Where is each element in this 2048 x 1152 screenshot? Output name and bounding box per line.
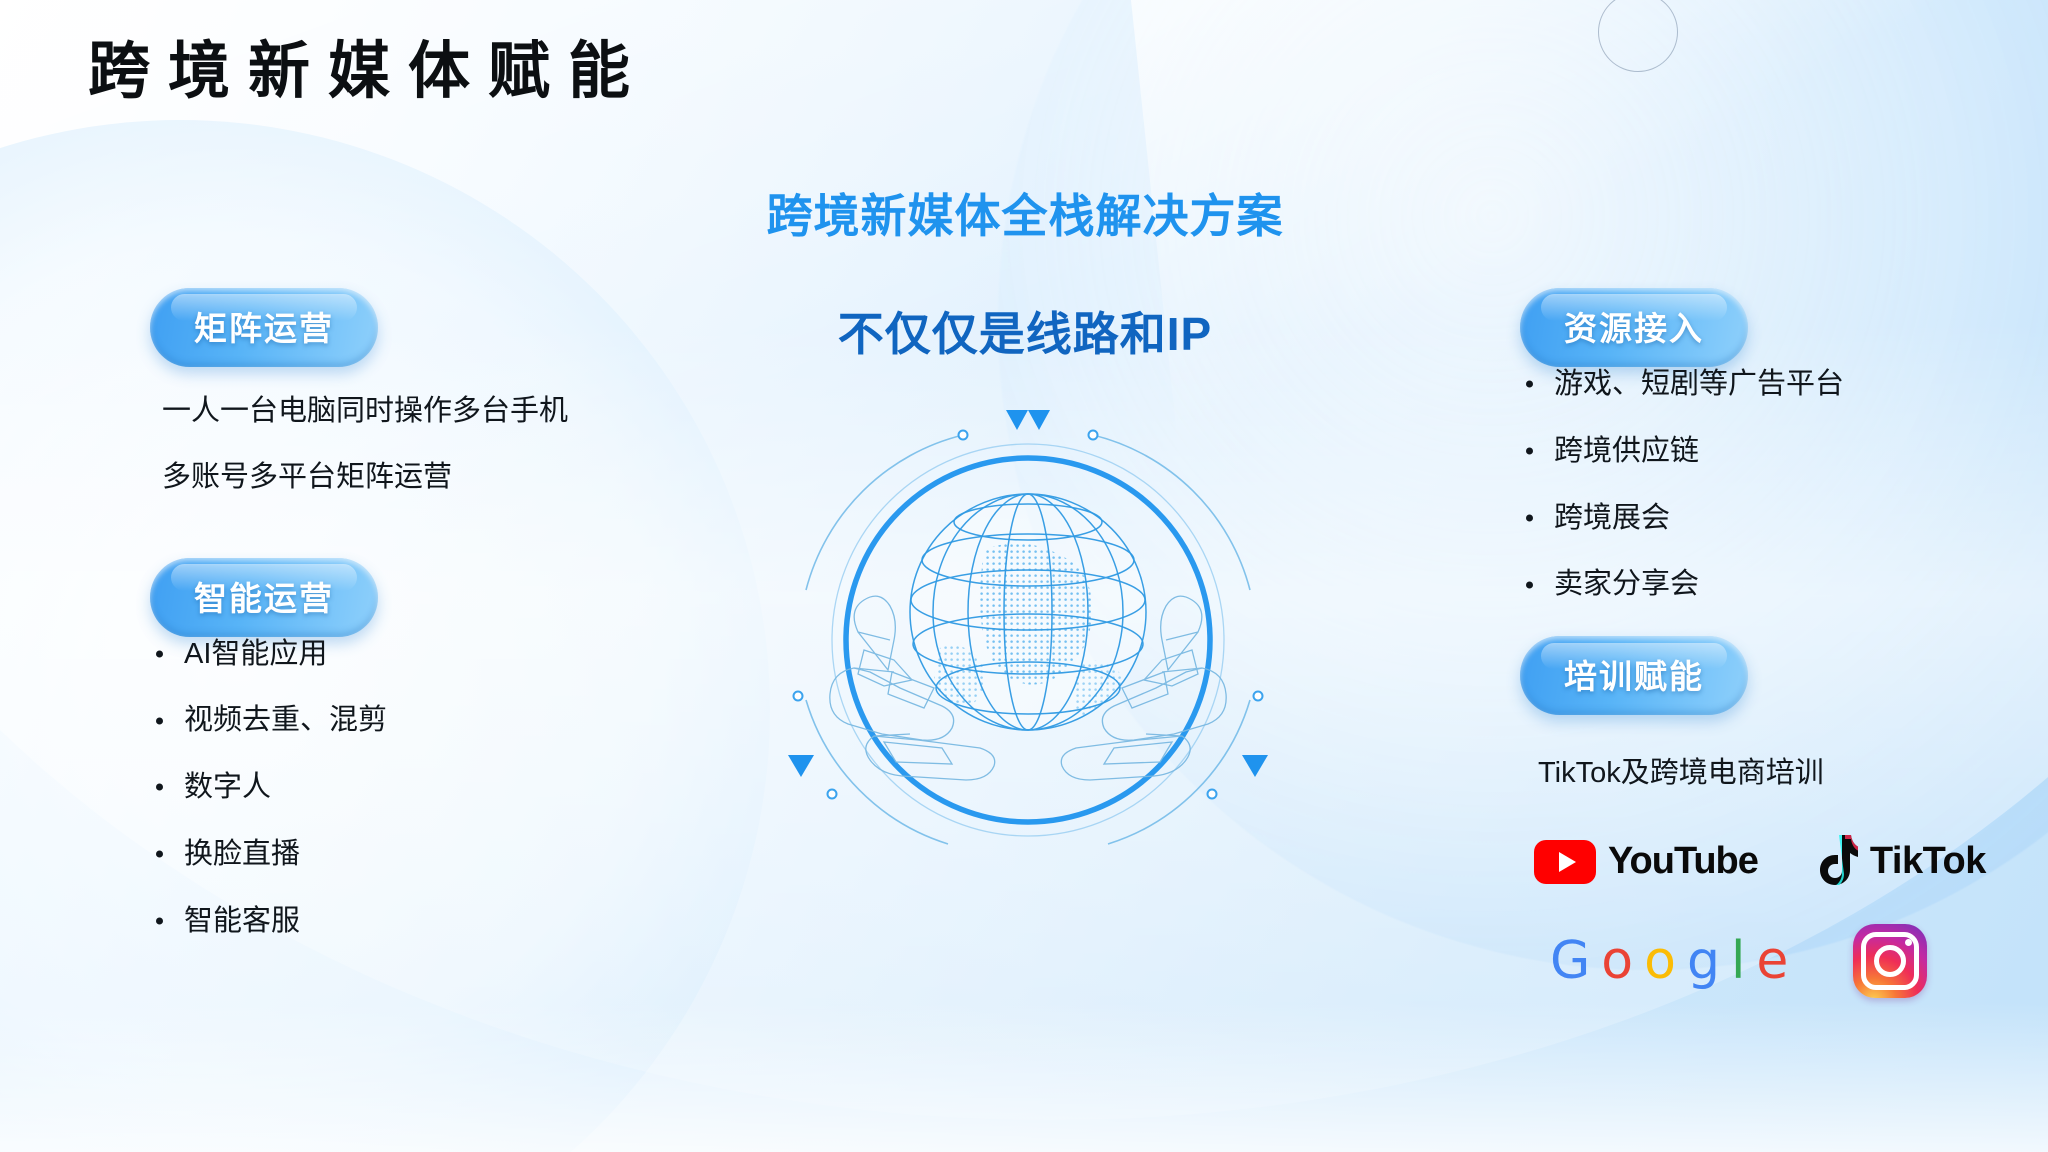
youtube-logo-label: YouTube: [1608, 840, 1758, 883]
matrix-line-2: 多账号多平台矩阵运营: [162, 459, 710, 495]
google-letter-e: e: [1756, 931, 1787, 991]
logo-row-primary: YouTube TikTok: [1534, 833, 2000, 890]
bullet-dot-icon: [156, 650, 163, 657]
google-letter-o1: o: [1601, 931, 1632, 991]
list-item: 数字人: [150, 770, 710, 805]
list-item: 换脸直播: [150, 837, 710, 872]
list-item-label: 数字人: [184, 771, 271, 803]
list-item-label: 卖家分享会: [1554, 568, 1699, 600]
bullet-dot-icon: [1526, 514, 1533, 521]
headline-primary: 跨境新媒体全栈解决方案: [560, 180, 1490, 246]
group-resource-access: 资源接入 游戏、短剧等广告平台 跨境供应链 跨境展会 卖家分享会: [1520, 288, 2000, 602]
bullet-dot-icon: [1526, 381, 1533, 388]
bullet-dot-icon: [1526, 581, 1533, 588]
bullet-dot-icon: [156, 851, 163, 858]
matrix-operations-body: 一人一台电脑同时操作多台手机 多账号多平台矩阵运营: [150, 393, 710, 496]
list-item: 智能客服: [150, 904, 710, 939]
list-item-label: 视频去重、混剪: [184, 704, 387, 736]
group-training-empowerment: 培训赋能 TikTok及跨境电商培训 YouTube: [1520, 636, 2000, 998]
instagram-logo[interactable]: [1853, 924, 1927, 998]
smart-operations-bullets: AI智能应用 视频去重、混剪 数字人 换脸直播 智能客服: [150, 637, 710, 939]
tiktok-logo-label: TikTok: [1870, 840, 1986, 883]
logo-row-secondary: Google: [1550, 924, 2000, 998]
list-item: 卖家分享会: [1520, 567, 2000, 602]
list-item: AI智能应用: [150, 637, 710, 672]
left-column: 矩阵运营 一人一台电脑同时操作多台手机 多账号多平台矩阵运营 智能运营 AI智能…: [150, 288, 710, 970]
pill-smart-operations[interactable]: 智能运营: [150, 558, 378, 637]
matrix-line-1: 一人一台电脑同时操作多台手机: [162, 393, 710, 429]
list-item-label: 跨境展会: [1554, 502, 1670, 534]
list-item: 游戏、短剧等广告平台: [1520, 367, 2000, 402]
google-letter-l: l: [1731, 931, 1744, 991]
list-item-label: 换脸直播: [184, 838, 300, 870]
list-item-label: 游戏、短剧等广告平台: [1554, 368, 1844, 400]
google-logo[interactable]: Google: [1550, 931, 1787, 991]
background-bottom-fade: [0, 1002, 2048, 1152]
tiktok-logo[interactable]: TikTok: [1812, 833, 1986, 890]
youtube-play-icon: [1534, 840, 1596, 884]
globe-in-hands-illustration: [788, 400, 1268, 880]
list-item: 跨境供应链: [1520, 434, 2000, 469]
resource-access-bullets: 游戏、短剧等广告平台 跨境供应链 跨境展会 卖家分享会: [1520, 367, 2000, 602]
right-column: 资源接入 游戏、短剧等广告平台 跨境供应链 跨境展会 卖家分享会: [1520, 288, 2000, 1008]
pill-training-empowerment[interactable]: 培训赋能: [1520, 636, 1748, 715]
list-item: 视频去重、混剪: [150, 703, 710, 738]
group-matrix-operations: 矩阵运营 一人一台电脑同时操作多台手机 多账号多平台矩阵运营: [150, 288, 710, 496]
list-item-label: 跨境供应链: [1554, 435, 1699, 467]
training-description: TikTok及跨境电商培训: [1538, 749, 2000, 791]
pill-resource-access[interactable]: 资源接入: [1520, 288, 1748, 367]
bullet-dot-icon: [156, 918, 163, 925]
slide-root: 跨境新媒体赋能 跨境新媒体全栈解决方案 不仅仅是线路和IP: [0, 0, 2048, 1152]
list-item-label: AI智能应用: [184, 638, 327, 670]
tiktok-note-icon: [1812, 833, 1858, 890]
bullet-dot-icon: [1526, 448, 1533, 455]
list-item-label: 智能客服: [184, 905, 300, 937]
google-letter-g2: g: [1687, 931, 1719, 991]
page-title: 跨境新媒体赋能: [88, 38, 648, 106]
bullet-dot-icon: [156, 784, 163, 791]
list-item: 跨境展会: [1520, 501, 2000, 536]
group-smart-operations: 智能运营 AI智能应用 视频去重、混剪 数字人 换脸直播: [150, 558, 710, 939]
bullet-dot-icon: [156, 717, 163, 724]
youtube-logo[interactable]: YouTube: [1534, 840, 1758, 884]
google-letter-g1: G: [1550, 931, 1589, 991]
google-letter-o2: o: [1644, 931, 1675, 991]
pill-matrix-operations[interactable]: 矩阵运营: [150, 288, 378, 367]
